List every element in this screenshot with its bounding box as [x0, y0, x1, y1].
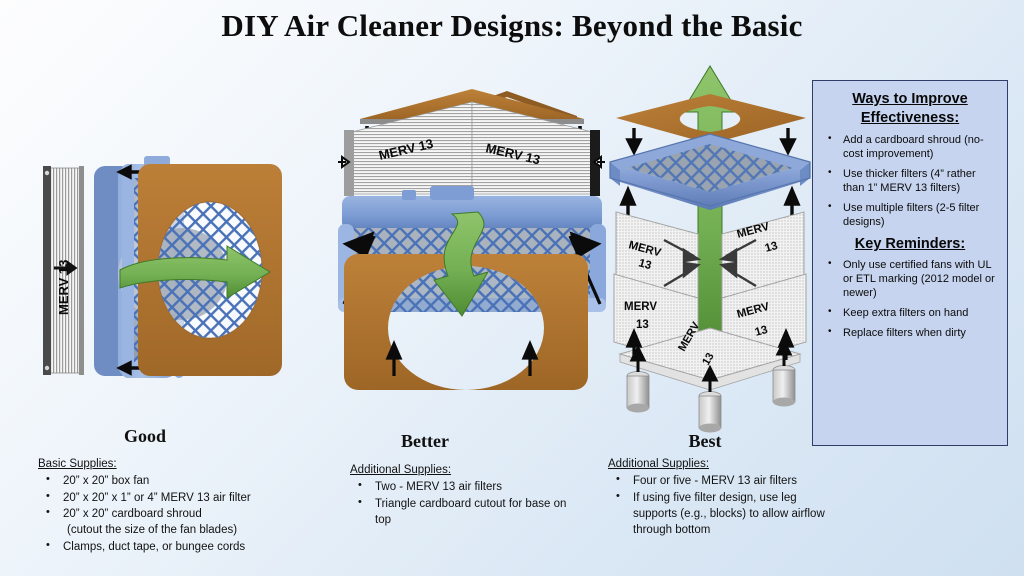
diagram-best: MERV 13 MERV 13 MERV 13 MERV 13 MERV 13 [598, 52, 828, 432]
bullet-icon: • [616, 472, 620, 488]
bullet-icon: • [828, 306, 832, 319]
list-item-text: Two - MERV 13 air filters [375, 481, 502, 493]
bullet-icon: • [616, 489, 620, 505]
supplies-lead: Basic Supplies: [38, 456, 358, 472]
page-title: DIY Air Cleaner Designs: Beyond the Basi… [0, 8, 1024, 44]
bullet-icon: • [46, 472, 50, 488]
bullet-icon: • [358, 495, 362, 511]
down-arrow-left [628, 128, 640, 152]
list-item: •20” x 20” box fan [38, 473, 358, 489]
tips-heading-improve: Ways to Improve Effectiveness: [821, 90, 999, 128]
list-item: •Clamps, duct tape, or bungee cords [38, 539, 358, 555]
tips-heading-line2: Effectiveness: [821, 109, 999, 128]
bullet-icon: • [828, 258, 832, 271]
supplies-lead: Additional Supplies: [350, 462, 580, 478]
list-item-text: If using five filter design, use leg sup… [633, 492, 825, 537]
list-item-text: Use multiple filters (2-5 filter designs… [843, 202, 979, 228]
list-item: •20” x 20” cardboard shroud(cutout the s… [38, 506, 358, 539]
list-item-text: Triangle cardboard cutout for base on to… [375, 498, 566, 526]
list-item-text: Four or five - MERV 13 air filters [633, 475, 797, 487]
bullet-icon: • [358, 478, 362, 494]
list-item-text: Only use certified fans with UL or ETL m… [843, 259, 995, 299]
bullet-icon: • [828, 326, 832, 339]
list-item-text: 20” x 20” x 1” or 4” MERV 13 air filter [63, 492, 251, 504]
list-item: •If using five filter design, use leg su… [608, 490, 838, 539]
heading-better: Better [350, 431, 500, 452]
tips-heading-line1: Ways to Improve [821, 90, 999, 109]
list-item-text: 20” x 20” cardboard shroud [63, 508, 202, 520]
list-item-text: Keep extra filters on hand [843, 307, 968, 319]
list-item: •Use thicker filters (4” rather than 1” … [821, 167, 999, 195]
supplies-list: •20” x 20” box fan •20” x 20” x 1” or 4”… [38, 473, 358, 555]
list-item: •Triangle cardboard cutout for base on t… [350, 496, 580, 529]
list-item: •20” x 20” x 1” or 4” MERV 13 air filter [38, 490, 358, 506]
list-item: •Replace filters when dirty [821, 326, 999, 340]
list-item: •Use multiple filters (2-5 filter design… [821, 201, 999, 229]
bullet-icon: • [828, 201, 832, 214]
merv-word: MERV [624, 301, 657, 313]
list-item: •Keep extra filters on hand [821, 306, 999, 320]
supplies-good: Basic Supplies: •20” x 20” box fan •20” … [38, 456, 358, 555]
merv-num: 13 [636, 319, 649, 331]
bullet-icon: • [46, 538, 50, 554]
box-fan-best [610, 134, 810, 210]
list-item: •Only use certified fans with UL or ETL … [821, 258, 999, 300]
supplies-list: •Two - MERV 13 air filters •Triangle car… [350, 479, 580, 528]
supplies-lead: Additional Supplies: [608, 456, 838, 472]
bullet-icon: • [828, 133, 832, 146]
slide-canvas: DIY Air Cleaner Designs: Beyond the Basi… [0, 0, 1024, 576]
tips-heading-reminders: Key Reminders: [821, 235, 999, 254]
list-item-text: Add a cardboard shroud (no-cost improvem… [843, 134, 984, 160]
heading-good: Good [60, 426, 230, 447]
list-item-subtext: (cutout the size of the fan blades) [63, 522, 358, 538]
supplies-better: Additional Supplies: •Two - MERV 13 air … [350, 462, 580, 528]
diagram-good: MERV 13 [32, 150, 332, 410]
tips-panel: Ways to Improve Effectiveness: •Add a ca… [812, 80, 1008, 446]
supplies-list: •Four or five - MERV 13 air filters •If … [608, 473, 838, 538]
bullet-icon: • [46, 489, 50, 505]
diagram-better: MERV 13 MERV 13 [322, 86, 622, 416]
merv-label: MERV 13 [56, 260, 71, 315]
list-item-text: Replace filters when dirty [843, 327, 966, 339]
heading-best: Best [630, 431, 780, 452]
list-item-text: 20” x 20” box fan [63, 475, 149, 487]
bullet-icon: • [828, 167, 832, 180]
list-item-text: Clamps, duct tape, or bungee cords [63, 541, 245, 553]
list-item: •Two - MERV 13 air filters [350, 479, 580, 495]
reminders-list: •Only use certified fans with UL or ETL … [821, 258, 999, 340]
list-item: •Add a cardboard shroud (no-cost improve… [821, 133, 999, 161]
bullet-icon: • [46, 505, 50, 521]
supplies-best: Additional Supplies: •Four or five - MER… [608, 456, 838, 539]
list-item-text: Use thicker filters (4” rather than 1” M… [843, 168, 976, 194]
improvements-list: •Add a cardboard shroud (no-cost improve… [821, 133, 999, 229]
down-arrow-right [782, 128, 794, 152]
merv-filter-good: MERV 13 [43, 166, 84, 375]
list-item: •Four or five - MERV 13 air filters [608, 473, 838, 489]
